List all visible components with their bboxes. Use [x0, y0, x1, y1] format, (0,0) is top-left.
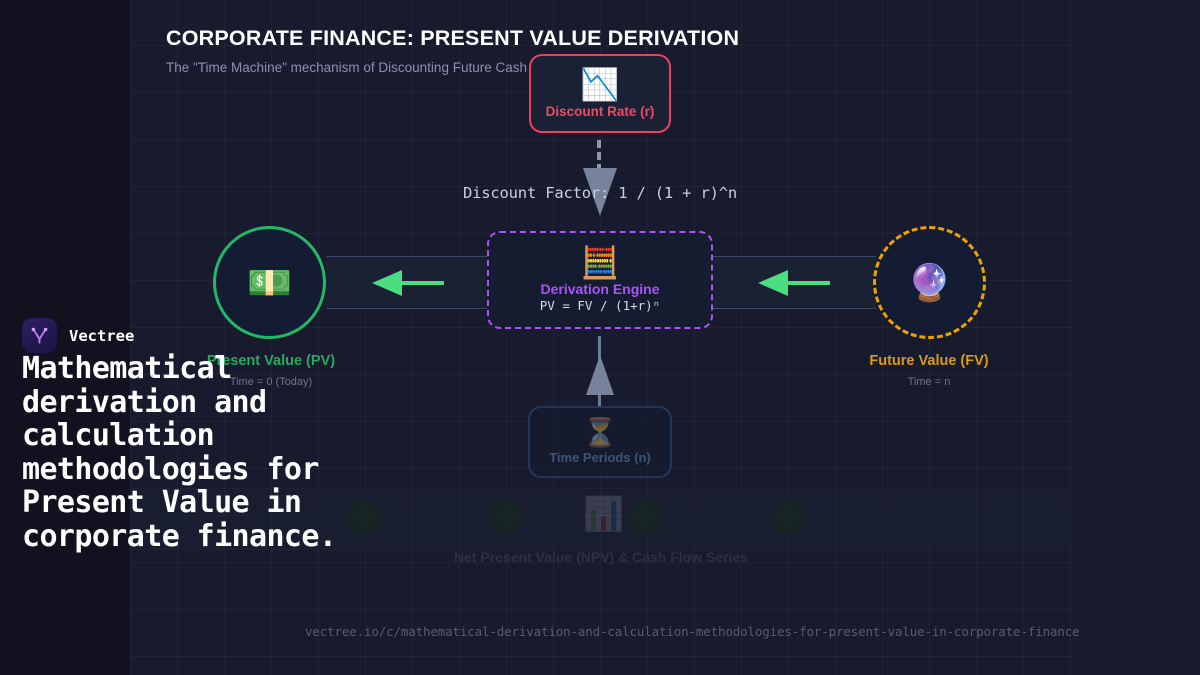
npv-dot	[347, 500, 381, 534]
edge-engine-to-pv	[326, 256, 490, 309]
diagram-stage: CORPORATE FINANCE: PRESENT VALUE DERIVAT…	[0, 0, 1200, 675]
node-future-value-time: Time = n	[799, 376, 1059, 388]
node-derivation-engine[interactable]: 🧮 Derivation Engine PV = FV / (1+r)ⁿ	[487, 231, 713, 329]
crystal-ball-icon: 🔮	[907, 265, 952, 301]
edge-fv-to-engine	[712, 256, 876, 309]
page-subtitle: The "Time Machine" mechanism of Discount…	[166, 60, 866, 75]
node-derivation-engine-formula: PV = FV / (1+r)ⁿ	[540, 298, 660, 313]
node-future-value-caption: Future Value (FV) Time = n	[799, 353, 1059, 388]
node-time-periods-label: Time Periods (n)	[549, 450, 651, 465]
footer-url: vectree.io/c/mathematical-derivation-and…	[305, 624, 1079, 639]
node-discount-rate[interactable]: 📉 Discount Rate (r)	[529, 54, 671, 133]
vectree-logo-icon	[22, 318, 57, 353]
diagram-header: CORPORATE FINANCE: PRESENT VALUE DERIVAT…	[166, 26, 866, 75]
arrow-left-icon	[372, 270, 444, 296]
brand-lockup: Vectree	[22, 318, 134, 353]
node-time-periods[interactable]: ⏳ Time Periods (n)	[528, 406, 672, 478]
abacus-icon: 🧮	[581, 247, 620, 278]
arrow-left-icon	[758, 270, 830, 296]
hourglass-icon: ⏳	[583, 419, 618, 447]
node-discount-rate-label: Discount Rate (r)	[546, 104, 655, 119]
page-title: CORPORATE FINANCE: PRESENT VALUE DERIVAT…	[166, 26, 866, 51]
npv-dot	[488, 500, 522, 534]
arrow-up-icon	[586, 355, 614, 395]
node-present-value[interactable]: 💵	[213, 226, 326, 339]
discount-factor-label: Discount Factor: 1 / (1 + r)^n	[0, 184, 1200, 202]
node-future-value[interactable]: 🔮	[873, 226, 986, 339]
canvas-right-gutter	[1072, 0, 1200, 675]
banknote-icon: 💵	[247, 265, 292, 301]
node-future-value-label: Future Value (FV)	[799, 353, 1059, 369]
overlay-headline: Mathematical derivation and calculation …	[22, 352, 352, 553]
npv-dot	[771, 500, 805, 534]
brand-name: Vectree	[69, 327, 134, 345]
bar-chart-icon: 📊	[583, 495, 624, 534]
chart-decreasing-icon: 📉	[581, 69, 620, 100]
node-derivation-engine-label: Derivation Engine	[540, 281, 659, 297]
npv-dot	[630, 500, 664, 534]
